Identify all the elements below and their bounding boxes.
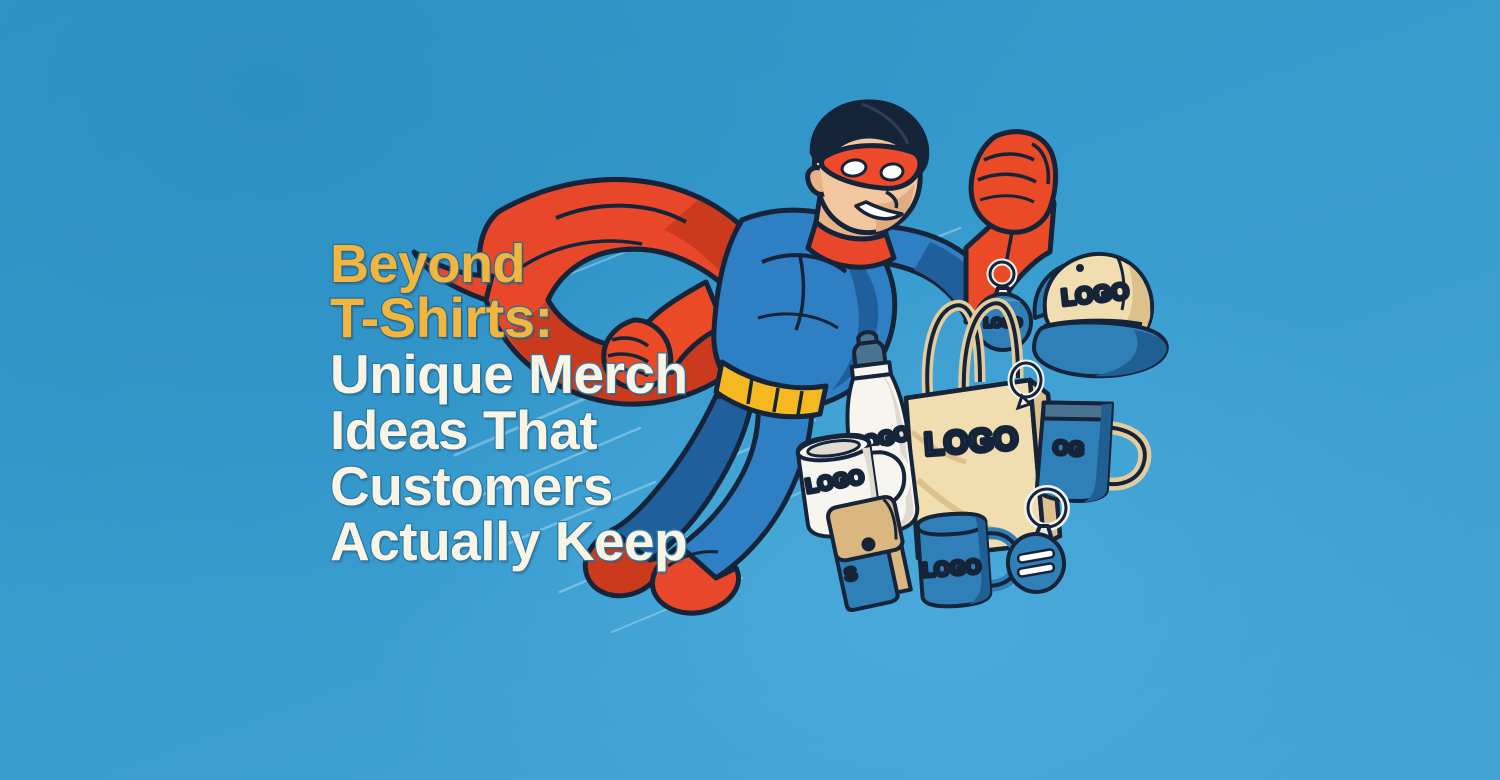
promo-banner: LOGO LOGO (0, 0, 1500, 780)
headline-line-1: Beyond (330, 238, 890, 291)
merch-baseball-cap: LOGO (1034, 254, 1167, 376)
tumbler-label: OG (1052, 437, 1085, 461)
tote-label: LOGO (923, 420, 1020, 462)
headline-line-6: Actually Keep (330, 515, 890, 569)
headline-line-3: Unique Merch (330, 348, 890, 402)
headline-line-4: Ideas That (330, 404, 890, 458)
headline-block: Beyond T-Shirts: Unique Merch Ideas That… (330, 238, 890, 569)
headline-line-5: Customers (330, 460, 890, 514)
headline-line-2: T-Shirts: (330, 291, 890, 346)
blue-mug-label: LOGO (921, 556, 981, 582)
